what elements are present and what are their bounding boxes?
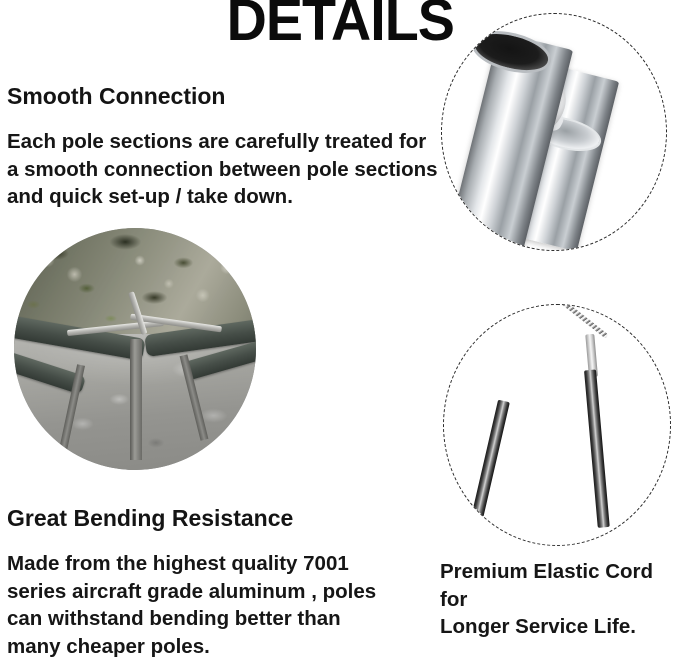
- tent-zipper-strap: [130, 339, 142, 460]
- pole-section-right: [584, 369, 610, 528]
- bending-resistance-body-line-2: series aircraft grade aluminum , poles: [7, 578, 407, 606]
- aluminum-tube-photo-circle: [441, 13, 667, 251]
- bending-resistance-body-line-3: can withstand bending better than: [7, 605, 407, 633]
- elastic-cord-caption-line-1: Premium Elastic Cord for: [440, 558, 676, 613]
- smooth-connection-heading: Smooth Connection: [7, 83, 225, 110]
- bending-resistance-body: Made from the highest quality 7001 serie…: [7, 550, 407, 660]
- elastic-cord-photo-circle: [443, 304, 671, 546]
- smooth-connection-body-line-2: a smooth connection between pole section…: [7, 156, 439, 184]
- smooth-connection-body: Each pole sections are carefully treated…: [7, 128, 439, 211]
- elastic-cord-caption-line-2: Longer Service Life.: [440, 613, 676, 641]
- tent-corner-photo: [14, 228, 256, 470]
- aluminum-tube-photo-inner: [442, 14, 666, 250]
- pole-section-left: [470, 400, 510, 524]
- elastic-cord-caption: Premium Elastic Cord for Longer Service …: [440, 558, 676, 641]
- page-title: DETAILS: [227, 0, 448, 50]
- bending-resistance-body-line-1: Made from the highest quality 7001: [7, 550, 407, 578]
- smooth-connection-body-line-3: and quick set-up / take down.: [7, 183, 439, 211]
- elastic-cord-strand: [545, 305, 608, 338]
- smooth-connection-body-line-1: Each pole sections are carefully treated…: [7, 128, 439, 156]
- bending-resistance-heading: Great Bending Resistance: [7, 505, 293, 532]
- bending-resistance-body-line-4: many cheaper poles.: [7, 633, 407, 660]
- elastic-cord-photo-inner: [444, 305, 670, 545]
